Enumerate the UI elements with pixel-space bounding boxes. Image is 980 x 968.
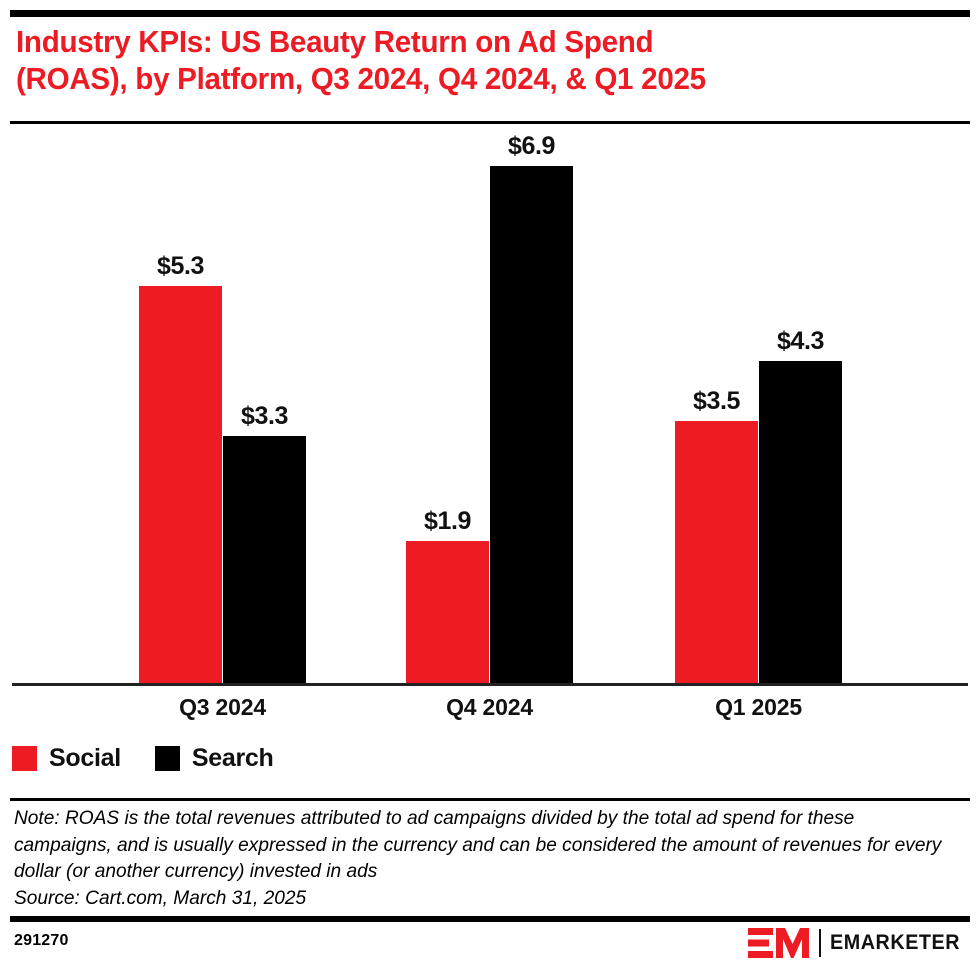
bar-value-label-social-0: $5.3 <box>139 252 222 281</box>
bar-value-label-search-2: $4.3 <box>759 327 842 356</box>
x-axis-line <box>12 683 968 686</box>
legend-swatch-social-icon <box>12 746 37 771</box>
note-block: Note: ROAS is the total revenues attribu… <box>14 805 943 911</box>
chart-page: Industry KPIs: US Beauty Return on Ad Sp… <box>0 0 980 968</box>
logo-wordmark: EMARKETER <box>830 931 960 955</box>
bar-value-label-search-1: $6.9 <box>490 132 573 161</box>
bar-value-label-search-0: $3.3 <box>223 402 306 431</box>
bar-social-q4-2024[interactable] <box>406 541 489 683</box>
bar-value-label-social-1: $1.9 <box>406 507 489 536</box>
chart-id: 291270 <box>14 932 69 950</box>
legend-item-social[interactable]: Social <box>12 744 121 773</box>
page-title: Industry KPIs: US Beauty Return on Ad Sp… <box>16 24 938 98</box>
source-text: Source: Cart.com, March 31, 2025 <box>14 885 943 912</box>
bar-search-q4-2024[interactable] <box>490 166 573 683</box>
logo-divider <box>819 929 821 957</box>
top-rule <box>10 10 970 17</box>
note-top-rule <box>10 798 970 801</box>
bar-search-q1-2025[interactable] <box>759 361 842 683</box>
emarketer-logo[interactable]: EMARKETER <box>748 928 968 958</box>
legend-item-search[interactable]: Search <box>155 744 274 773</box>
legend-label-social: Social <box>49 744 121 773</box>
note-text: Note: ROAS is the total revenues attribu… <box>14 805 943 885</box>
x-axis-label-q1-2025: Q1 2025 <box>675 694 842 721</box>
bar-search-q3-2024[interactable] <box>223 436 306 683</box>
bar-social-q3-2024[interactable] <box>139 286 222 683</box>
footer-rule <box>10 916 970 922</box>
bar-value-label-social-2: $3.5 <box>675 387 758 416</box>
legend-swatch-search-icon <box>155 746 180 771</box>
em-logo-icon <box>748 928 810 958</box>
bar-chart-plot: $5.3 $3.3 $1.9 $6.9 $3.5 $4.3 <box>0 124 980 688</box>
legend-label-search: Search <box>192 744 274 773</box>
chart-legend: Social Search <box>12 744 273 773</box>
x-axis-label-q3-2024: Q3 2024 <box>139 694 306 721</box>
bar-social-q1-2025[interactable] <box>675 421 758 683</box>
x-axis-label-q4-2024: Q4 2024 <box>406 694 573 721</box>
